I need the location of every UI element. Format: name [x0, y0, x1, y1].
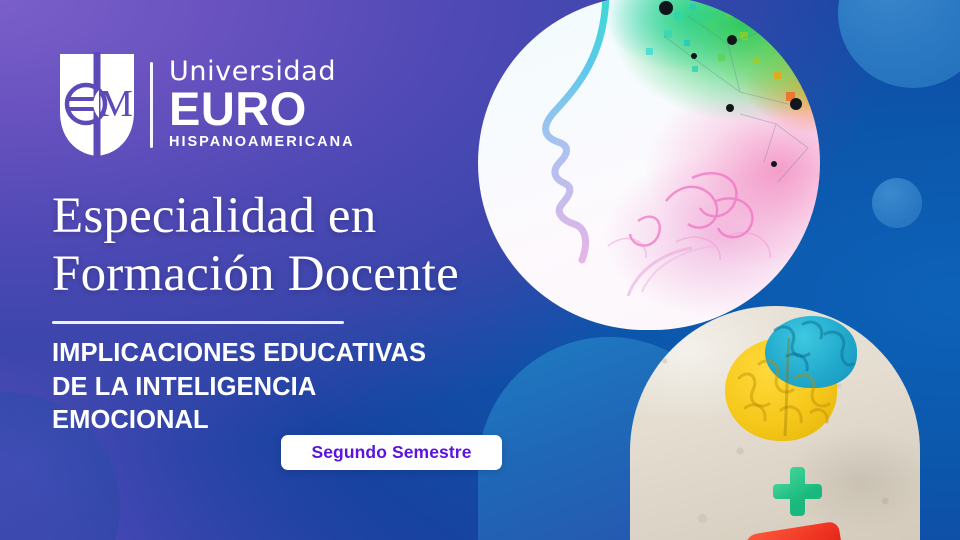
page-subtitle-line-3: EMOCIONAL	[52, 404, 502, 438]
university-logo: M Universidad EURO HISPANOAMERICANA	[58, 52, 355, 158]
euro-shield-icon: M	[58, 52, 136, 158]
clay-brain-icon	[725, 316, 855, 441]
colorful-head-profile-photo	[478, 0, 820, 330]
svg-text:M: M	[99, 83, 133, 125]
head-profile-icon	[478, 0, 820, 330]
green-plus-icon	[773, 467, 822, 516]
course-promo-banner: M Universidad EURO HISPANOAMERICANA Espe…	[0, 0, 960, 540]
page-subtitle: IMPLICACIONES EDUCATIVAS DE LA INTELIGEN…	[52, 337, 502, 438]
decorative-circle-top-right	[838, 0, 960, 88]
title-divider	[52, 321, 344, 324]
decorative-circle-mid-right	[872, 178, 922, 228]
status-badge-label: Segundo Semestre	[311, 442, 471, 463]
page-subtitle-line-1: IMPLICACIONES EDUCATIVAS	[52, 337, 502, 371]
page-title-line-2: Formación Docente	[52, 246, 522, 304]
brain-gyri-detail	[725, 316, 855, 441]
logo-divider	[150, 62, 153, 148]
page-title-line-1: Especialidad en	[52, 188, 522, 246]
logo-line-hispanoamericana: HISPANOAMERICANA	[169, 134, 355, 151]
logo-line-universidad: Universidad	[169, 58, 355, 85]
page-title: Especialidad en Formación Docente	[52, 188, 522, 303]
logo-line-euro: EURO	[169, 85, 355, 134]
logo-wordmark: Universidad EURO HISPANOAMERICANA	[169, 58, 355, 151]
clay-brain-photo	[630, 306, 920, 540]
page-subtitle-line-2: DE LA INTELIGENCIA	[52, 371, 502, 405]
status-badge: Segundo Semestre	[281, 435, 502, 470]
